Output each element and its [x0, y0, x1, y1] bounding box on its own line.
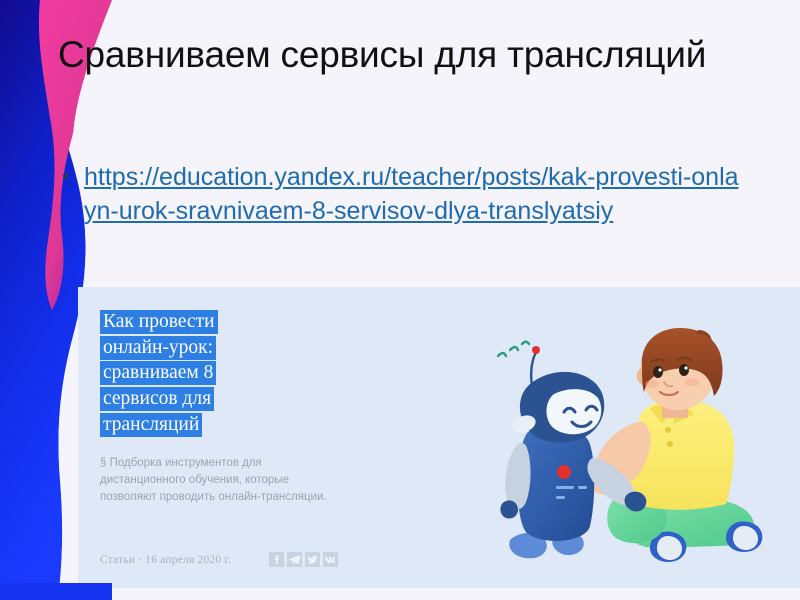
deco-blue-band: [0, 0, 86, 600]
robot-chest-bar: [578, 486, 587, 489]
article-preview-card[interactable]: Как провести онлайн-урок: сравниваем 8 с…: [78, 287, 800, 588]
telegram-icon[interactable]: [287, 552, 302, 567]
shirt-button: [667, 441, 673, 447]
social-share-row: [269, 552, 338, 567]
page-title: Сравниваем сервисы для трансляций: [58, 33, 718, 76]
bullet-marker: •: [62, 160, 84, 194]
bottom-accent-bar: [0, 583, 112, 600]
robot-chest-button: [557, 465, 571, 479]
article-hyperlink[interactable]: https://education.yandex.ru/teacher/post…: [84, 160, 742, 228]
article-headline-line: трансляций: [100, 413, 202, 437]
article-description: § Подборка инструментов для дистанционно…: [100, 455, 338, 507]
article-headline: Как провести онлайн-урок: сравниваем 8 с…: [100, 309, 370, 438]
boy-with-robot-illustration: [492, 326, 792, 588]
robot-antenna-tip: [532, 346, 540, 354]
boy-eye: [679, 364, 689, 376]
robot-hand: [500, 500, 518, 518]
twitter-icon[interactable]: [305, 552, 320, 567]
article-meta: Статьи · 16 апреля 2020 г.: [100, 554, 231, 566]
presentation-slide: Сравниваем сервисы для трансляций • http…: [0, 0, 800, 600]
robot-chest-bar: [556, 496, 565, 499]
shirt-button: [665, 427, 671, 433]
robot-arm: [505, 443, 530, 510]
article-card-text-column: Как провести онлайн-урок: сравниваем 8 с…: [100, 309, 370, 506]
article-headline-line: Как провести: [100, 310, 218, 334]
vk-icon[interactable]: [323, 552, 338, 567]
article-headline-line: сравниваем 8: [100, 361, 216, 385]
facebook-icon[interactable]: [269, 552, 284, 567]
article-headline-line: сервисов для: [100, 387, 214, 411]
robot-chest-bar: [556, 486, 574, 489]
article-card-footer: Статьи · 16 апреля 2020 г.: [100, 552, 380, 567]
bullet-list-item: • https://education.yandex.ru/teacher/po…: [62, 160, 742, 228]
boy-eye: [653, 366, 663, 378]
article-headline-line: онлайн-урок:: [100, 336, 216, 360]
